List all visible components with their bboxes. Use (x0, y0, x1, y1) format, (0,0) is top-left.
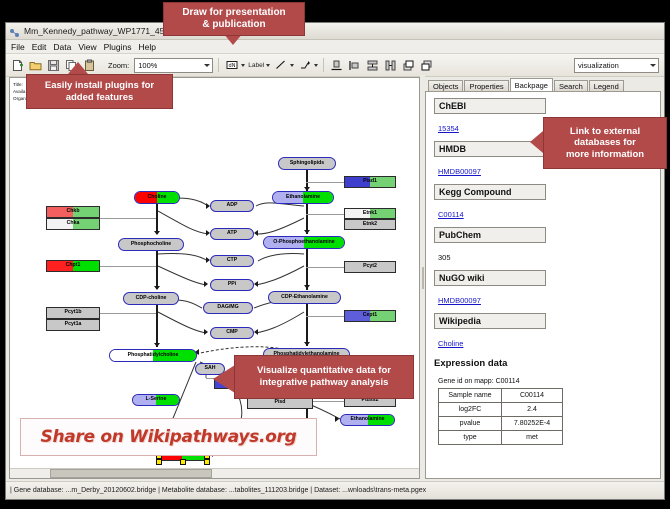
node-label: Cept1 (363, 313, 377, 318)
node-label: Choline (147, 195, 166, 200)
screenshot-root: Mm_Kennedy_pathway_WP1771_45176.gpml Fil… (0, 0, 670, 509)
node-label: CDP-choline (136, 296, 167, 301)
regulator-line (306, 267, 344, 268)
metabolite-node[interactable]: Sphingolipids (278, 157, 336, 170)
arrowhead-icon (254, 230, 258, 236)
gene-node[interactable]: Chkb (46, 206, 100, 218)
interaction-group[interactable] (297, 58, 318, 73)
pubchem-value: 305 (438, 253, 451, 262)
table-row: log2FC 2.4 (439, 403, 563, 417)
metabolite-node[interactable]: CTP (210, 255, 254, 267)
pathway-title-info: Title: Availa Organi (13, 81, 27, 102)
arrowhead-icon (154, 286, 160, 290)
gene-node[interactable]: Cept1 (344, 310, 396, 322)
node-label: CTP (227, 258, 237, 263)
expression-data-heading: Expression data (434, 358, 652, 369)
gene-node[interactable]: Pisd1 (344, 176, 396, 188)
pubchem-header: PubChem (434, 227, 546, 243)
chevron-down-icon[interactable] (314, 64, 318, 67)
callout-share-text: Share on Wikipathways.org (41, 427, 297, 447)
hmdb-link[interactable]: HMDB00097 (438, 167, 481, 176)
hscroll-thumb[interactable] (50, 469, 212, 478)
arrowhead-icon (254, 329, 258, 335)
metabolite-node[interactable]: Phosphocholine (118, 238, 184, 251)
regulator-line (306, 214, 344, 215)
arrowhead-icon (304, 230, 310, 234)
node-label: Etnk1 (363, 211, 377, 216)
node-label: Etnk2 (363, 222, 377, 227)
gene-node[interactable]: Pcyt1a (46, 319, 100, 331)
callout-visualize-arrow (213, 365, 235, 393)
chevron-down-icon[interactable] (241, 64, 245, 67)
toolbar-separator (323, 58, 324, 72)
metabolite-node[interactable]: CMP (210, 327, 254, 339)
node-label: Pcyt2 (363, 264, 377, 269)
node-label: Phosphocholine (131, 242, 171, 247)
arrowhead-icon (154, 231, 160, 235)
gene-node[interactable]: Pcyt2 (344, 261, 396, 273)
menu-item-view[interactable]: View (78, 42, 96, 52)
chebi-header: ChEBI (434, 98, 546, 114)
zoom-label: Zoom: (108, 61, 129, 70)
menu-item-edit[interactable]: Edit (32, 42, 47, 52)
arrowhead-icon (204, 281, 208, 287)
zoom-combo[interactable]: 100% (134, 58, 213, 73)
connector (156, 251, 158, 289)
metabolite-node[interactable]: L-Serine (132, 394, 180, 406)
node-label: Ptdss2 (361, 398, 378, 403)
row-value: met (502, 431, 563, 445)
line-icon[interactable] (273, 58, 288, 73)
status-text: | Gene database: ...m_Derby_20120602.bri… (10, 487, 426, 494)
callout-visualize: Visualize quantitative data forintegrati… (234, 355, 414, 399)
connector (306, 249, 308, 290)
metabolite-node[interactable]: O-Phosphoethanolamine (263, 236, 345, 249)
organism-field-label: Organi (13, 95, 27, 102)
label-button-text[interactable]: Label (248, 62, 264, 69)
node-label: Pcyt1a (65, 322, 82, 327)
metabolite-node[interactable]: Choline (134, 191, 180, 204)
node-label: CDP-Ethanolamine (281, 295, 328, 300)
row-value: 2.4 (502, 403, 563, 417)
connector (156, 204, 158, 234)
selection-handle[interactable] (156, 459, 162, 465)
nugo-header: NuGO wiki (434, 270, 546, 286)
regulator-line (306, 316, 344, 317)
line-group[interactable] (273, 58, 294, 73)
connector (306, 304, 308, 346)
metabolite-node[interactable]: ATP (210, 228, 254, 240)
common-width-button[interactable] (383, 58, 398, 73)
align-left-button[interactable] (347, 58, 362, 73)
expression-table: Sample name C00114 log2FC 2.4 pvalue 7.8… (438, 388, 563, 445)
nugo-link[interactable]: HMDB00097 (438, 296, 481, 305)
tab-objects[interactable]: Objects (428, 80, 463, 91)
chevron-down-icon[interactable] (266, 64, 270, 67)
selection-handle[interactable] (204, 459, 210, 465)
metabolite-node[interactable]: Ethanolamine (340, 414, 395, 426)
tab-search[interactable]: Search (554, 80, 588, 91)
metabolite-node[interactable]: CDP-Ethanolamine (268, 291, 341, 304)
callout-links: Link to externaldatabases formore inform… (543, 117, 667, 169)
callout-plugins-text: Easily install plugins foradded features (45, 80, 154, 103)
regulator-line (100, 218, 156, 219)
datanode-icon[interactable]: dN (224, 58, 239, 73)
node-label: Chkb (67, 209, 80, 214)
regulator-line (100, 313, 156, 314)
gene-id-on-mapp: Gene id on mapp: C00114 (438, 378, 652, 385)
regulator-line (306, 182, 344, 183)
title-field-label: Title: (13, 81, 27, 88)
callout-plugins: Easily install plugins foradded features (26, 74, 173, 109)
node-label: Sphingolipids (290, 161, 324, 166)
align-top-button[interactable] (329, 58, 344, 73)
row-key: Sample name (439, 389, 502, 403)
availability-field-label: Availa (13, 88, 27, 95)
node-label: Chpt1 (66, 263, 81, 268)
label-group[interactable]: Label (248, 62, 270, 69)
arrowhead-icon (304, 285, 310, 289)
metabolite-node[interactable]: DAG/MG (203, 302, 253, 314)
datanode-group[interactable]: dN (224, 58, 245, 73)
arrowhead-icon (154, 343, 160, 347)
chebi-link[interactable]: 15354 (438, 124, 459, 133)
node-label: Pisd1 (363, 179, 377, 184)
send-to-back-button[interactable] (419, 58, 434, 73)
node-label: Ethanolamine (350, 417, 384, 422)
tab-properties[interactable]: Properties (464, 80, 508, 91)
row-value: 7.80252E-4 (502, 417, 563, 431)
callout-links-text: Link to externaldatabases formore inform… (566, 126, 644, 161)
toolbar-separator (218, 58, 219, 72)
menu-item-help[interactable]: Help (139, 42, 156, 52)
chevron-down-icon (650, 64, 656, 67)
status-bar: | Gene database: ...m_Derby_20120602.bri… (6, 481, 664, 499)
chevron-down-icon (204, 64, 210, 67)
callout-draw-text: Draw for presentation& publication (182, 7, 285, 31)
node-label: L-Serine (146, 397, 167, 402)
zoom-value: 100% (138, 61, 157, 70)
menu-item-data[interactable]: Data (53, 42, 71, 52)
callout-share: Share on Wikipathways.org (20, 418, 317, 456)
callout-plugins-arrow (68, 62, 88, 74)
row-key: pvalue (439, 417, 502, 431)
menu-item-plugins[interactable]: Plugins (104, 42, 132, 52)
metabolite-node[interactable]: ADP (210, 200, 254, 212)
node-label: O-Phosphoethanolamine (273, 240, 334, 245)
callout-links-arrow (530, 131, 543, 153)
node-label: DAG/MG (217, 305, 238, 310)
save-file-button[interactable] (46, 58, 61, 73)
callout-draw: Draw for presentation& publication (163, 2, 305, 36)
table-row: Sample name C00114 (439, 389, 563, 403)
node-label: Chka (67, 221, 80, 226)
canvas-hscrollbar[interactable] (10, 468, 419, 478)
arrowhead-icon (335, 416, 339, 422)
wikipedia-header: Wikipedia (434, 313, 546, 329)
gene-node[interactable]: Etnk1 (344, 208, 396, 219)
tab-backpage[interactable]: Backpage (510, 78, 553, 91)
metabolite-node[interactable]: PPi (210, 279, 254, 291)
table-row: type met (439, 431, 563, 445)
visualization-combo[interactable]: visualization (574, 58, 659, 73)
kegg-header: Kegg Compound (434, 184, 546, 200)
stack-vertical-button[interactable] (365, 58, 380, 73)
row-key: log2FC (439, 403, 502, 417)
svg-text:dN: dN (228, 63, 235, 69)
node-label: PPi (228, 282, 236, 287)
gene-node[interactable]: Chka (46, 218, 100, 230)
tab-legend[interactable]: Legend (589, 80, 624, 91)
new-file-button[interactable] (10, 58, 25, 73)
metabolite-node[interactable]: Phosphatidylcholine (109, 349, 197, 362)
selection-handle[interactable] (180, 459, 186, 465)
arrowhead-icon (304, 342, 310, 346)
node-label: ADP (227, 203, 238, 208)
node-label: Pcyt1b (64, 310, 81, 315)
row-key: type (439, 431, 502, 445)
node-label: Ethanolamine (286, 195, 320, 200)
regulator-line (100, 266, 156, 267)
node-label: CMP (226, 330, 238, 335)
visualization-value: visualization (578, 61, 619, 70)
pathvisio-app-icon (9, 26, 20, 37)
gene-node[interactable]: Pcyt1b (46, 307, 100, 319)
gene-node[interactable]: Chpt1 (46, 260, 100, 272)
kegg-link[interactable]: C00114 (438, 210, 464, 219)
gene-node[interactable]: Etnk2 (344, 219, 396, 230)
arrowhead-icon (254, 281, 258, 287)
row-value: C00114 (502, 389, 563, 403)
arrowhead-icon (204, 329, 208, 335)
table-row: pvalue 7.80252E-4 (439, 417, 563, 431)
node-label: Phosphatidylcholine (128, 353, 179, 358)
chevron-down-icon[interactable] (290, 64, 294, 67)
wikipedia-link[interactable]: Choline (438, 339, 463, 348)
menu-bar: File Edit Data View Plugins Help (6, 40, 664, 54)
menu-item-file[interactable]: File (11, 42, 25, 52)
open-file-button[interactable] (28, 58, 43, 73)
metabolite-node[interactable]: Ethanolamine (272, 191, 334, 204)
connector (156, 305, 158, 347)
side-panel-tabs: Objects Properties Backpage Search Legen… (425, 77, 661, 91)
node-label: ATP (227, 231, 237, 236)
metabolite-node[interactable]: CDP-choline (123, 292, 179, 305)
interaction-icon[interactable] (297, 58, 312, 73)
callout-visualize-text: Visualize quantitative data forintegrati… (257, 365, 391, 388)
node-label: Pisd (275, 400, 286, 405)
title-bar: Mm_Kennedy_pathway_WP1771_45176.gpml (6, 23, 664, 40)
bring-to-front-button[interactable] (401, 58, 416, 73)
